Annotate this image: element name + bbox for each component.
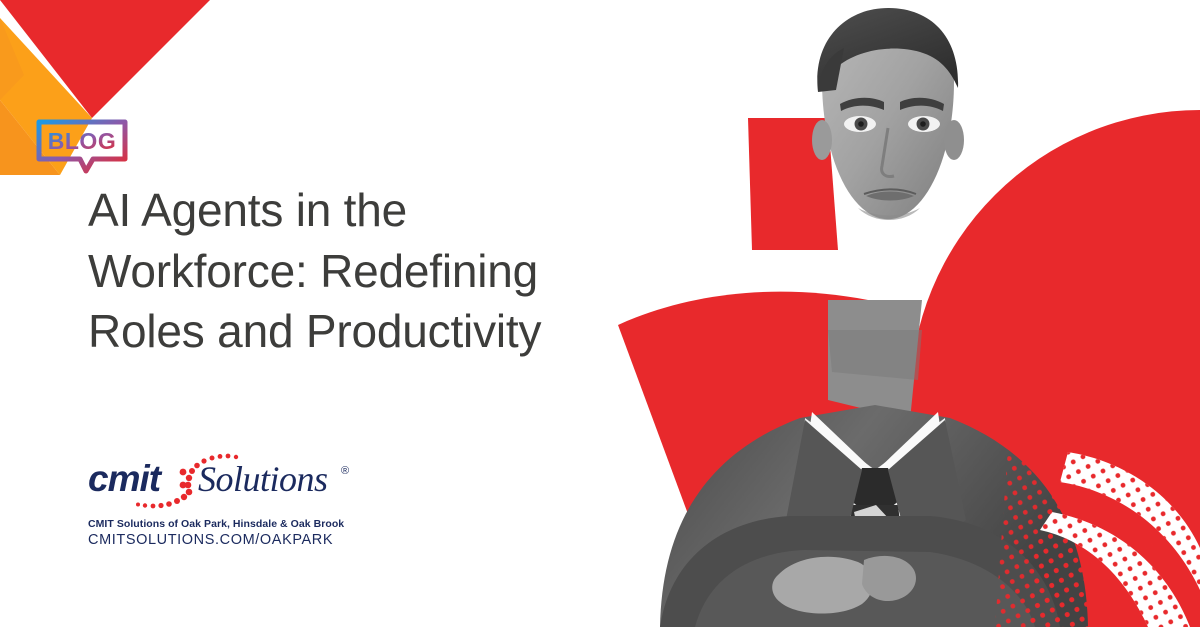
blog-badge-icon: BLOG <box>36 118 128 174</box>
hero-artwork <box>600 0 1200 627</box>
blog-banner: BLOG AI Agents in the Workforce: Redefin… <box>0 0 1200 627</box>
blog-badge: BLOG <box>36 118 128 174</box>
blog-badge-label: BLOG <box>48 128 116 154</box>
logo-wordmark-cmit: cmit <box>88 458 163 499</box>
logo-url: CMITSOLUTIONS.COM/OAKPARK <box>88 532 388 548</box>
logo-tagline: CMIT Solutions of Oak Park, Hinsdale & O… <box>88 518 388 530</box>
cmit-solutions-logo: cmit Solutions ® <box>88 452 356 514</box>
page-title: AI Agents in the Workforce: Redefining R… <box>88 180 608 362</box>
logo-registered-mark: ® <box>341 465 349 477</box>
logo-wordmark-solutions: Solutions <box>198 459 328 499</box>
logo-block: cmit Solutions ® CMIT Solutions of Oak P… <box>88 452 388 548</box>
